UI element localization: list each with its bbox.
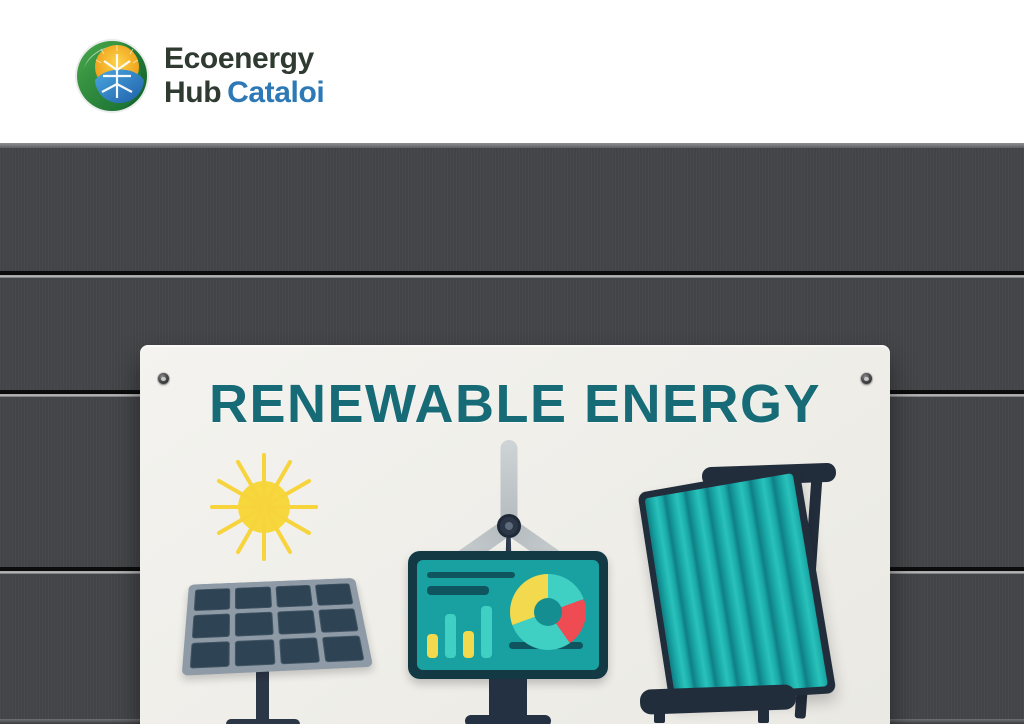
screen-text-line xyxy=(427,572,515,578)
brand-logo[interactable]: Ecoenergy HubCataloi xyxy=(72,36,324,116)
dashboard-screen xyxy=(417,560,599,670)
chart-bar xyxy=(445,614,456,658)
solar-thermal-collector-icon xyxy=(640,459,845,724)
brand-line-1: Ecoenergy xyxy=(164,44,324,74)
sign-title: RENEWABLE ENERGY xyxy=(140,373,890,435)
brand-wordmark: Ecoenergy HubCataloi xyxy=(164,44,324,108)
energy-icons-row xyxy=(176,451,854,724)
collector-foot xyxy=(758,709,769,723)
collector-tube-panel xyxy=(637,465,836,704)
globe-leaf-sun-logo-icon xyxy=(72,36,152,116)
plank-seam xyxy=(0,271,1024,278)
page-header: Ecoenergy HubCataloi xyxy=(0,0,1024,143)
chart-bar xyxy=(463,631,474,658)
screen-text-line xyxy=(427,586,489,595)
dashboard-monitor-icon xyxy=(408,551,608,724)
turbine-hub xyxy=(497,514,521,538)
donut-chart xyxy=(510,574,586,650)
chart-bar xyxy=(481,606,492,658)
solar-panel-foot xyxy=(226,719,300,724)
chart-bar xyxy=(427,634,438,658)
solar-panel-icon xyxy=(182,569,372,724)
renewable-energy-sign-panel: RENEWABLE ENERGY xyxy=(140,345,890,724)
monitor-neck xyxy=(489,679,527,719)
wall-top-edge xyxy=(0,143,1024,148)
wood-plank-wall: RENEWABLE ENERGY xyxy=(0,143,1024,724)
solar-icon-cell xyxy=(182,451,397,724)
collector-tubes xyxy=(644,473,828,696)
thermo-icon-cell xyxy=(634,451,849,724)
collector-foot xyxy=(654,709,665,723)
screenshot-root: Ecoenergy HubCataloi RENEWABLE ENERGY xyxy=(0,0,1024,724)
brand-line-2: HubCataloi xyxy=(164,78,324,108)
solar-panel-array xyxy=(181,578,372,676)
brand-cataloi-text: Cataloi xyxy=(227,76,324,109)
brand-hub-text: Hub xyxy=(164,76,221,109)
sun-icon xyxy=(210,453,318,561)
wind-icon-cell xyxy=(408,451,623,724)
monitor-base xyxy=(465,715,551,724)
monitor-bezel xyxy=(408,551,608,679)
